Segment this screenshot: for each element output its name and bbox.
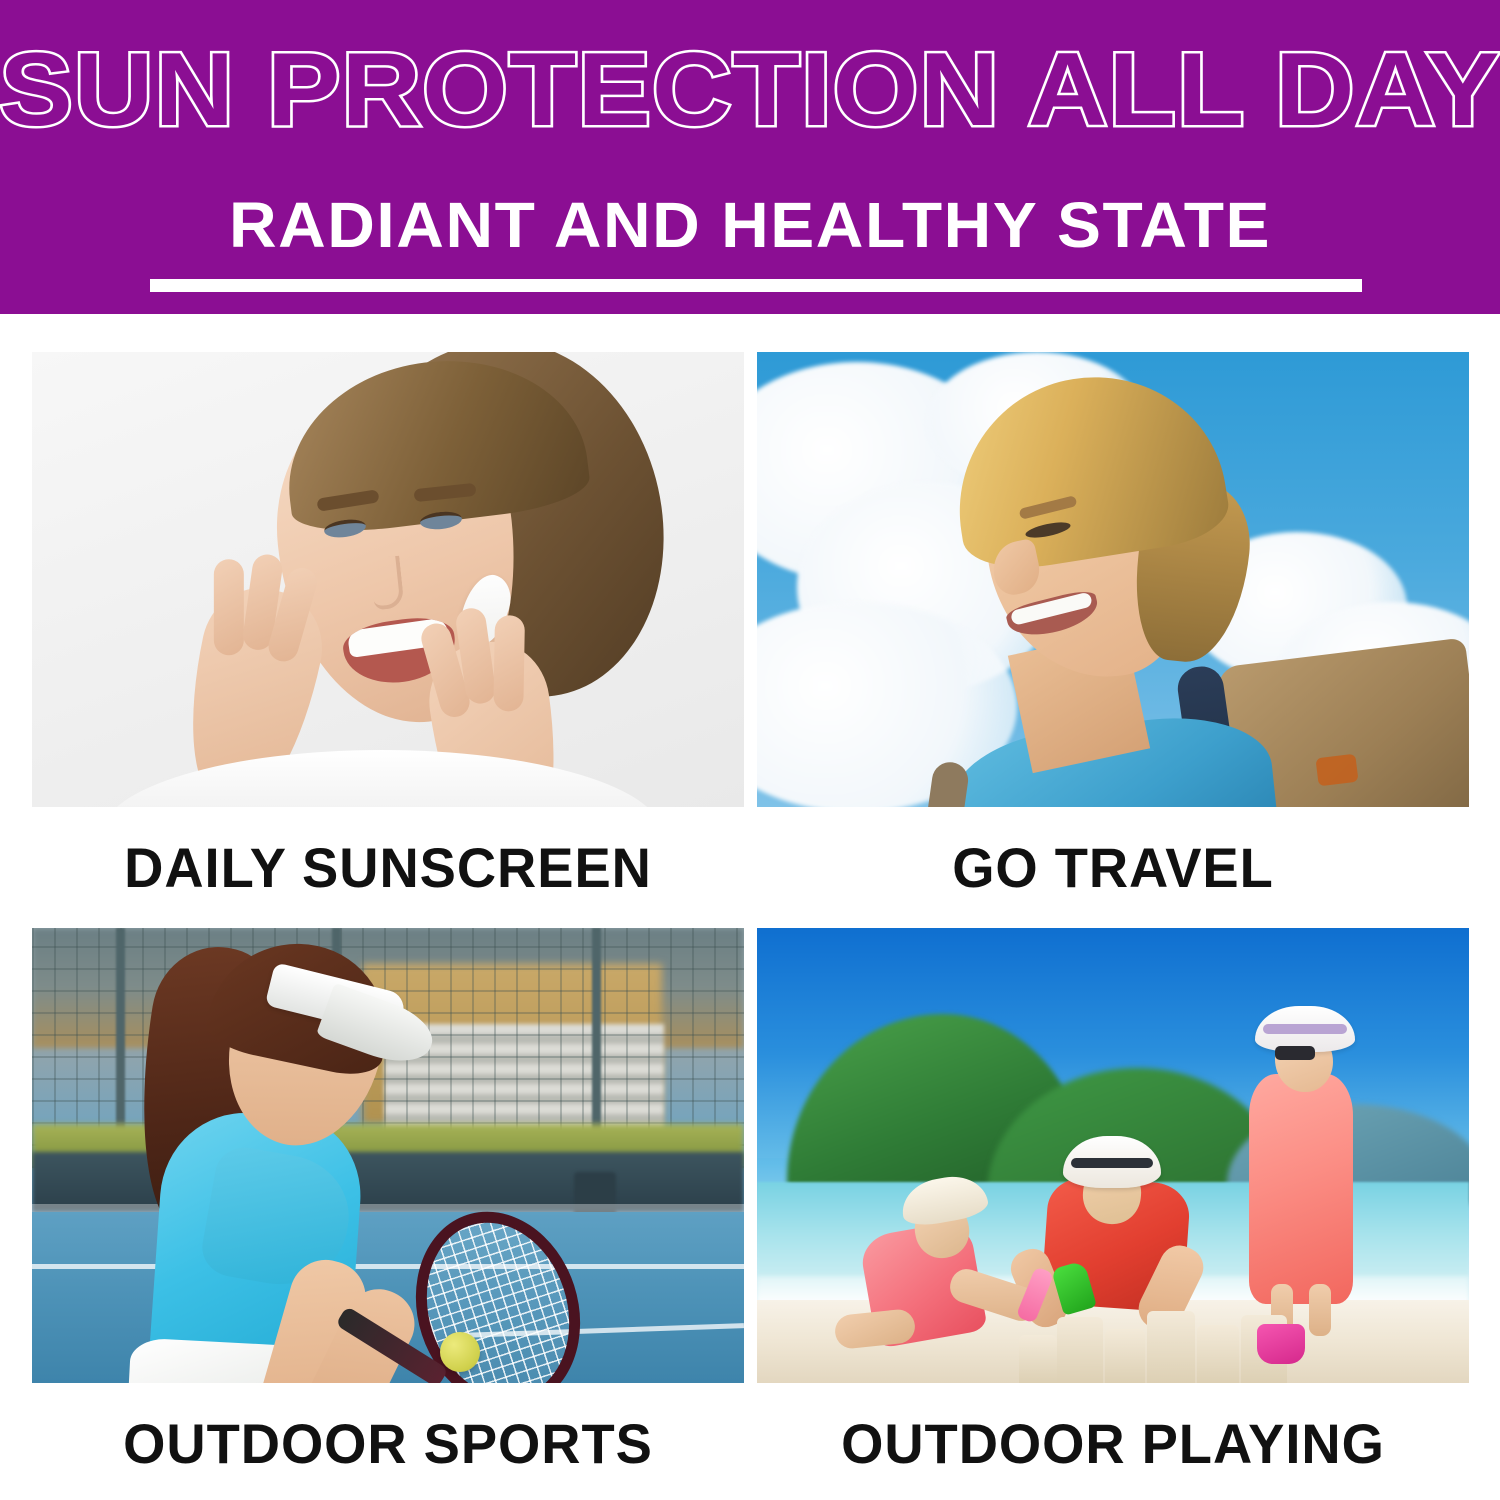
- sandcastle-tower: [1197, 1325, 1239, 1383]
- grid-cell-daily-sunscreen: DAILY SUNSCREEN: [32, 352, 744, 927]
- beach-bucket-shape: [1257, 1324, 1305, 1364]
- grid-cell-go-travel: GO TRAVEL: [757, 352, 1469, 927]
- sandcastle-tower: [1057, 1317, 1103, 1383]
- caption-go-travel: GO TRAVEL: [768, 807, 1459, 927]
- caption-daily-sunscreen: DAILY SUNSCREEN: [43, 807, 734, 927]
- subtitle-underline: [150, 279, 1362, 292]
- girl-standing-leg: [1309, 1284, 1331, 1336]
- grid-cell-outdoor-playing: OUTDOOR PLAYING: [757, 928, 1469, 1500]
- tennis-ball: [440, 1332, 480, 1372]
- hat-band-shape: [1071, 1158, 1153, 1168]
- court-line: [32, 1264, 744, 1269]
- sunglasses-shape: [1275, 1046, 1315, 1060]
- page-title: SUN PROTECTION ALL DAY: [0, 36, 1500, 144]
- girl-standing-dress: [1249, 1074, 1353, 1304]
- caption-outdoor-sports: OUTDOOR SPORTS: [43, 1383, 734, 1500]
- photo-go-travel: [757, 352, 1469, 807]
- photo-outdoor-sports: [32, 928, 744, 1383]
- promo-banner: SUN PROTECTION ALL DAY RADIANT AND HEALT…: [0, 0, 1500, 1500]
- page-subtitle: RADIANT AND HEALTHY STATE: [0, 190, 1500, 260]
- caption-outdoor-playing: OUTDOOR PLAYING: [768, 1383, 1459, 1500]
- court-wall-shape: [32, 1152, 744, 1212]
- backpack-logo-shape: [1315, 754, 1358, 787]
- photo-daily-sunscreen: [32, 352, 744, 807]
- sandcastle-tower: [1019, 1335, 1057, 1383]
- header-band: SUN PROTECTION ALL DAY RADIANT AND HEALT…: [0, 0, 1500, 314]
- hat-band-shape: [1263, 1024, 1347, 1034]
- sandcastle-tower: [1105, 1329, 1145, 1383]
- photo-outdoor-playing: [757, 928, 1469, 1383]
- finger-shape: [214, 559, 244, 655]
- sandcastle-tower: [1147, 1311, 1195, 1383]
- feature-grid: DAILY SUNSCREEN: [0, 314, 1500, 1500]
- finger-shape: [493, 615, 525, 712]
- grid-cell-outdoor-sports: OUTDOOR SPORTS: [32, 928, 744, 1500]
